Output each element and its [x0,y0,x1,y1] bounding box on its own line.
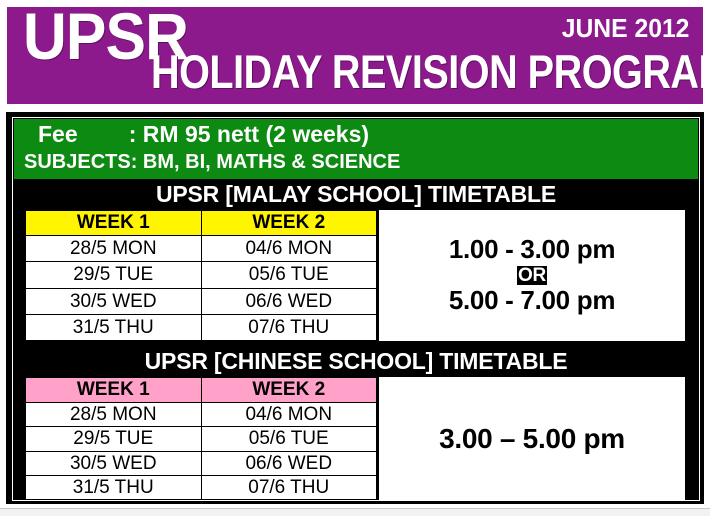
day-cell: 31/5 THU [26,475,202,499]
day-cell: 30/5 WED [26,451,202,475]
subjects-line: SUBJECTS: BM, BI, MATHS & SCIENCE [24,152,400,172]
fee-amount-line: Fee : RM 95 nett (2 weeks) [38,123,369,146]
day-cell: 06/6 WED [201,288,377,314]
header-banner: UPSR JUNE 2012 HOLIDAY REVISION PROGRAMM… [6,6,704,105]
day-cell: 07/6 THU [201,314,377,340]
day-cell: 31/5 THU [26,314,202,340]
column-header-week2: WEEK 2 [201,211,377,236]
day-cell: 04/6 MON [201,236,377,262]
column-header-week1: WEEK 1 [26,211,202,236]
column-header-week2: WEEK 2 [201,378,377,403]
time-slot-chinese: 3.00 – 5.00 pm [377,377,685,500]
table-row: 28/5 MON 04/6 MON [26,236,377,262]
programme-title: HOLIDAY REVISION PROGRAMME [151,49,704,96]
table-header-row: WEEK 1 WEEK 2 [26,378,377,403]
time-slot-malay: 1.00 - 3.00 pm OR 5.00 - 7.00 pm [377,210,685,341]
table-row: 29/5 TUE 05/6 TUE [26,262,377,288]
section-title-chinese: UPSR [CHINESE SCHOOL] TIMETABLE [14,346,698,376]
day-cell: 28/5 MON [26,403,202,427]
column-header-week1: WEEK 1 [26,378,202,403]
time-single: 3.00 – 5.00 pm [439,423,625,455]
table-row: 29/5 TUE 05/6 TUE [26,427,377,451]
days-table-chinese: WEEK 1 WEEK 2 28/5 MON 04/6 MON 29/5 TUE… [25,377,377,500]
table-row: 30/5 WED 06/6 WED [26,451,377,475]
content-frame: Fee : RM 95 nett (2 weeks) SUBJECTS: BM,… [6,112,704,504]
table-row: 31/5 THU 07/6 THU [26,314,377,340]
day-cell: 04/6 MON [201,403,377,427]
time-separator-or: OR [517,266,547,286]
day-cell: 07/6 THU [201,475,377,499]
table-row: 31/5 THU 07/6 THU [26,475,377,499]
day-cell: 28/5 MON [26,236,202,262]
table-header-row: WEEK 1 WEEK 2 [26,211,377,236]
timetable-malay: WEEK 1 WEEK 2 28/5 MON 04/6 MON 29/5 TUE… [24,209,686,342]
day-cell: 29/5 TUE [26,427,202,451]
day-cell: 06/6 WED [201,451,377,475]
day-cell: 30/5 WED [26,288,202,314]
day-cell: 05/6 TUE [201,262,377,288]
table-row: 28/5 MON 04/6 MON [26,403,377,427]
timetable-chinese: WEEK 1 WEEK 2 28/5 MON 04/6 MON 29/5 TUE… [24,376,686,501]
time-option-1: 1.00 - 3.00 pm [449,235,615,264]
table-row: 30/5 WED 06/6 WED [26,288,377,314]
section-title-malay: UPSR [MALAY SCHOOL] TIMETABLE [14,179,698,209]
upsr-poster: UPSR JUNE 2012 HOLIDAY REVISION PROGRAMM… [0,0,710,516]
days-table-malay: WEEK 1 WEEK 2 28/5 MON 04/6 MON 29/5 TUE… [25,210,377,341]
day-cell: 05/6 TUE [201,427,377,451]
content-frame-inner: Fee : RM 95 nett (2 weeks) SUBJECTS: BM,… [12,117,700,501]
bottom-strip [0,508,710,516]
day-cell: 29/5 TUE [26,262,202,288]
time-option-2: 5.00 - 7.00 pm [449,286,615,315]
issue-date: JUNE 2012 [561,15,689,41]
fee-block: Fee : RM 95 nett (2 weeks) SUBJECTS: BM,… [14,119,698,179]
